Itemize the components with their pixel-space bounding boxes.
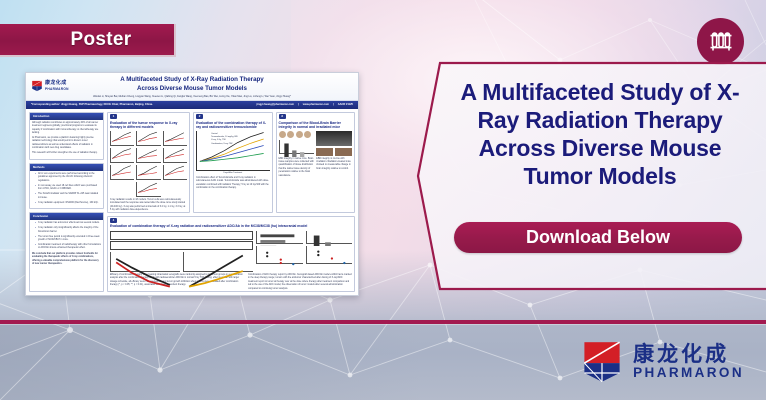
poster-panel-caption: Combination effect of Temozolomide and X… [196, 177, 269, 191]
brain-sample-images [279, 131, 315, 138]
poster-paragraph: At Pharmaron, we provide a platform feat… [32, 137, 101, 151]
mini-plot [110, 131, 134, 146]
mini-plot [163, 165, 187, 180]
pharmaron-logo: 康龙化成 PHARMARON [580, 340, 744, 384]
mini-plot [110, 252, 180, 272]
mini-scatter [256, 246, 302, 264]
poster-header: 康龙化成 PHARMARON A Multifaceted Study of X… [26, 73, 358, 101]
poster-contact-bar: *Corresponding author: Jingyi Huang, SVP… [26, 101, 358, 109]
poster-panel-number: 2 [196, 114, 203, 119]
poster-section-methods: Methods All in vivo experiments were per… [29, 163, 104, 209]
poster-panel-2: 2 Evaluation of the combination therapy … [193, 112, 272, 213]
poster-section-body: All in vivo experiments were performed a… [32, 173, 101, 205]
brain-sample-image [287, 131, 294, 138]
poster-authors: Weidan Li, Shuyan Bai, Meihan Cheng, Lin… [26, 95, 358, 98]
poster-body: Introduction Although radiation contribu… [26, 109, 358, 295]
mini-bar-chart [306, 231, 352, 244]
mini-bar-chart [279, 140, 315, 154]
poster-bullet: The tumor-free period is significantly e… [35, 236, 101, 243]
brain-section-image [316, 148, 333, 156]
promo-banner: Poster [0, 0, 766, 400]
tumor-image-strip [110, 241, 253, 250]
poster-badge: Poster [0, 24, 176, 57]
tumor-image-strip [110, 231, 253, 240]
pharmaron-mark-icon [31, 80, 43, 92]
poster-panel-caption-right: Combination of ADC therapy report by ADC… [248, 274, 352, 291]
headline-title-line-4: Tumor Models [444, 162, 756, 190]
poster-section-body: Although radiation contributes to approx… [32, 122, 101, 156]
poster-bullet: X-ray radiation only insignificantly aff… [35, 227, 101, 234]
mini-scatter [306, 246, 352, 264]
mini-bar-chart [256, 231, 302, 244]
mini-plot [163, 131, 187, 146]
poster-panel-title: Evaluation of combination therapy of X-r… [110, 224, 352, 228]
poster-plot-grid [110, 131, 187, 197]
headline-title: A Multifaceted Study of X- Ray Radiation… [444, 78, 756, 190]
headline-panel: A Multifaceted Study of X- Ray Radiation… [410, 56, 766, 296]
chart-xlabel: Days After Treatment [196, 172, 269, 175]
pharmaron-wordmark: 康龙化成 PHARMARON [633, 344, 744, 380]
poster-bullet: Combination treatment of radiotherapy wi… [35, 244, 101, 251]
poster-panel-4: 4 Evaluation of combination therapy of X… [107, 216, 355, 292]
mini-plot [110, 148, 134, 163]
poster-right-area: 1 Evaluation of the tumor response to X-… [107, 112, 355, 292]
poster-panel-number: 3 [279, 114, 286, 119]
download-below-label: Download Below [526, 227, 670, 248]
poster-thumbnail[interactable]: 康龙化成 PHARMARON A Multifaceted Study of X… [25, 72, 359, 296]
poster-panel-caption-right: EBD integrity in murine with irradiation… [316, 158, 352, 179]
poster-bullet: The Xstrahl irradiator and the SARRP XL-… [35, 193, 101, 200]
poster-bullet: X-ray radiation has anti-tumor effects a… [35, 222, 101, 225]
poster-contact-email: jingyi.huang@pharmaron.com [257, 103, 294, 107]
chart-legend: Control Temozolomide, 10 mg/kg, BID X-ra… [211, 133, 238, 146]
poster-panel-number: 1 [110, 114, 117, 119]
brain-sample-image [304, 131, 311, 138]
mini-plot [183, 252, 253, 272]
poster-logo-cn: 康龙化成 [45, 80, 69, 87]
headline-title-line-2: Ray Radiation Therapy [444, 106, 756, 134]
mini-plot [136, 131, 160, 146]
download-below-button[interactable]: Download Below [454, 222, 742, 253]
brain-sample-image [296, 131, 303, 138]
poster-panel-3: 3 Comparison of the Blood-Brain Barrier … [276, 112, 355, 213]
poster-panel-title: Comparison of the Blood-Brain Barrier in… [279, 121, 352, 130]
combination-therapy-line-chart: Control Temozolomide, 10 mg/kg, BID X-ra… [196, 131, 269, 171]
mini-plot [163, 148, 187, 163]
pharmaron-wordmark-cn: 康龙化成 [633, 344, 744, 365]
brain-section-image [335, 148, 352, 156]
brain-sample-image [279, 131, 286, 138]
poster-conclusion-footer: We conclude that our platform provides r… [32, 253, 101, 267]
poster-logo-en: PHARMARON [45, 87, 69, 91]
poster-bullet: X-ray radiation equipment: RS2000 (Rad S… [35, 202, 101, 205]
poster-logo: 康龙化成 PHARMARON [31, 77, 93, 94]
poster-panel-title: Evaluation of the combination therapy of… [196, 121, 269, 130]
poster-left-column: Introduction Although radiation contribu… [29, 112, 104, 292]
poster-paragraph: Although radiation contributes to approx… [32, 122, 101, 136]
poster-section-conclusion: Conclusion X-ray radiation has anti-tumo… [29, 212, 104, 292]
poster-paragraph: This research will further strengthen th… [32, 152, 101, 155]
poster-contact-id: AACR #1125 [338, 103, 353, 107]
poster-bullet: In vivo assay, we used 18 cell lines whi… [35, 185, 101, 192]
poster-panel-caption-left: EBD integrity in native mice. Brain tiss… [279, 158, 315, 179]
poster-section-body: X-ray radiation has anti-tumor effects a… [32, 222, 101, 251]
legend-item: Combination, X-ray TIW [211, 143, 238, 146]
poster-panel-caption: X-ray radiation results in 18 models. Tu… [110, 199, 187, 213]
mini-plot [110, 165, 134, 180]
headline-title-line-3: Across Diverse Mouse [444, 134, 756, 162]
poster-section-heading: Methods [30, 164, 103, 171]
poster-bullet: All in vivo experiments were performed a… [35, 173, 101, 183]
poster-panel-title: Evaluation of the tumor response to X-ra… [110, 121, 187, 130]
poster-panel-row-top: 1 Evaluation of the tumor response to X-… [107, 112, 355, 213]
poster-section-heading: Introduction [30, 113, 103, 120]
poster-section-heading: Conclusion [30, 213, 103, 220]
mini-plot [136, 148, 160, 163]
poster-contact-web: www.pharmaron.com [303, 103, 329, 107]
xray-image [316, 131, 352, 146]
poster-badge-label: Poster [43, 29, 132, 51]
mini-plot [136, 182, 160, 197]
poster-panel-number: 4 [110, 218, 117, 223]
pharmaron-mark-icon [580, 340, 624, 384]
poster-panel-1: 1 Evaluation of the tumor response to X-… [107, 112, 190, 213]
pharmaron-wordmark-en: PHARMARON [633, 366, 744, 380]
poster-corresponding-author: *Corresponding author: Jingyi Huang, SVP… [31, 103, 153, 107]
headline-title-line-1: A Multifaceted Study of X- [444, 78, 756, 106]
poster-section-introduction: Introduction Although radiation contribu… [29, 112, 104, 160]
divider-line [0, 320, 766, 324]
mini-plot [136, 165, 160, 180]
